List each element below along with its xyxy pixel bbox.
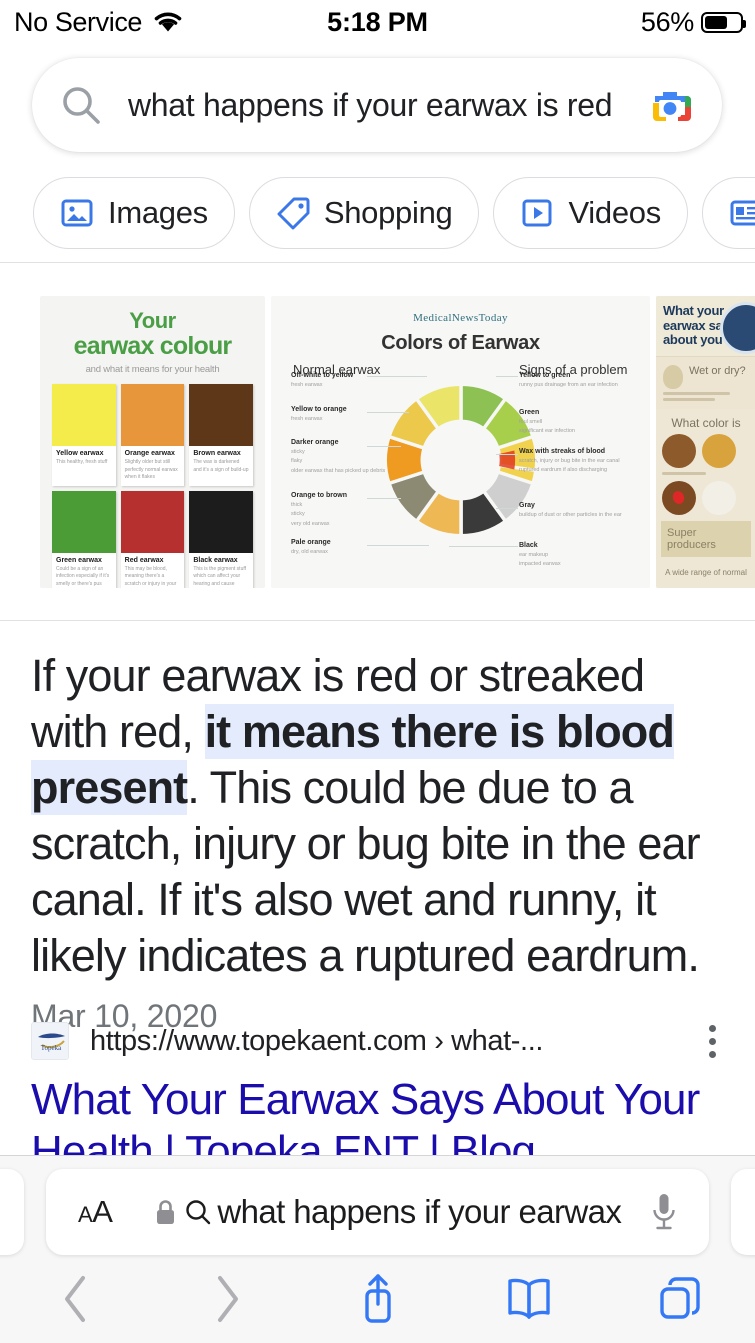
swatch-desc: The wax is darkened and it's a sign of b… bbox=[193, 459, 249, 474]
item-name: Black bbox=[519, 542, 624, 549]
color-circle bbox=[702, 434, 736, 468]
image-result-3[interactable]: What your earwax says about you Wet or d… bbox=[656, 296, 755, 588]
bookmarks-button[interactable] bbox=[453, 1255, 604, 1343]
earwax-blob-icon bbox=[663, 365, 683, 389]
text-size-button[interactable]: AA bbox=[78, 1194, 112, 1230]
filter-chip-shopping[interactable]: Shopping bbox=[249, 177, 480, 249]
filter-chip-label: Images bbox=[108, 195, 208, 231]
image-result-1[interactable]: Your earwax colour and what it means for… bbox=[40, 296, 265, 588]
infographic1-title-line1: Your bbox=[52, 310, 253, 332]
swatch-cell: Brown earwaxThe wax is darkened and it's… bbox=[189, 384, 253, 486]
problem-item: Black ear makeup impacted earwax bbox=[519, 542, 624, 569]
swatch-desc: Slightly older but still perfectly norma… bbox=[125, 459, 181, 481]
problem-item: Yellow to green runny pus drainage from … bbox=[519, 372, 624, 389]
divider-top bbox=[0, 262, 755, 263]
normal-item: Darker orange sticky flaky older earwax … bbox=[291, 439, 396, 475]
microphone-icon[interactable] bbox=[649, 1191, 679, 1233]
swatch-name: Green earwax bbox=[56, 557, 112, 564]
chevron-left-icon bbox=[58, 1271, 94, 1327]
colors-of-earwax-title: Colors of Earwax bbox=[271, 332, 650, 355]
video-play-icon bbox=[520, 196, 554, 230]
item-bullet: scratch, injury or bug bite in the ear c… bbox=[519, 457, 624, 465]
normal-item: Yellow to orange fresh earwax bbox=[291, 406, 396, 423]
book-icon bbox=[504, 1271, 554, 1327]
kebab-menu-icon[interactable] bbox=[693, 1025, 731, 1058]
color-circle-with-blood bbox=[662, 481, 696, 515]
item-bullet: foul smell bbox=[519, 418, 624, 426]
swatch-name: Black earwax bbox=[193, 557, 249, 564]
adjacent-tab-right[interactable] bbox=[731, 1169, 755, 1255]
google-search-bar[interactable]: what happens if your earwax is red bbox=[32, 58, 722, 152]
result-url[interactable]: https://www.topekaent.com › what-... bbox=[90, 1025, 693, 1058]
color-circle bbox=[702, 481, 736, 515]
infographic1-subtitle: and what it means for your health bbox=[52, 364, 253, 375]
swatch-cell: Red earwaxThis may be blood, meaning the… bbox=[121, 491, 185, 588]
item-bullet: impacted earwax bbox=[519, 560, 624, 568]
back-button[interactable] bbox=[0, 1255, 151, 1343]
image-icon bbox=[60, 196, 94, 230]
swatch-cell: Black earwaxThis is the pigment stuff wh… bbox=[189, 491, 253, 588]
problem-item: Gray buildup of dust or other particles … bbox=[519, 502, 624, 519]
item-bullet: older earwax that has picked up debris bbox=[291, 467, 396, 475]
problem-item: Wax with streaks of blood scratch, injur… bbox=[519, 448, 624, 475]
swatch-desc: This may be blood, meaning there's a scr… bbox=[125, 566, 181, 588]
item-name: Yellow to green bbox=[519, 372, 624, 379]
item-name: Darker orange bbox=[291, 439, 396, 446]
status-bar-right: 56% bbox=[641, 7, 743, 38]
filter-chip-label: Shopping bbox=[324, 195, 453, 231]
share-button[interactable] bbox=[302, 1255, 453, 1343]
swatch-desc: Could be a sign of an infection especial… bbox=[56, 566, 112, 588]
color-circle bbox=[662, 434, 696, 468]
item-bullet: very old earwax bbox=[291, 520, 396, 528]
item-name: Green bbox=[519, 409, 624, 416]
filter-chip-images[interactable]: Images bbox=[33, 177, 235, 249]
topeka-ent-favicon: Topeka bbox=[31, 1022, 69, 1060]
battery-percent-label: 56% bbox=[641, 7, 694, 38]
swatch-desc: This is the pigment stuff which can affe… bbox=[193, 566, 249, 588]
status-bar: No Service 5:18 PM 56% bbox=[0, 0, 755, 44]
lock-icon bbox=[154, 1198, 177, 1227]
swatch-cell: Green earwaxCould be a sign of an infect… bbox=[52, 491, 116, 588]
search-icon bbox=[60, 84, 102, 126]
safari-toolbar[interactable] bbox=[0, 1255, 755, 1343]
swatch-name: Red earwax bbox=[125, 557, 181, 564]
safari-browser-screen: No Service 5:18 PM 56% what happens if y… bbox=[0, 0, 755, 1343]
filter-chip-row[interactable]: Images Shopping Videos News bbox=[0, 175, 755, 251]
swatch-cell: Yellow earwaxThis healthy, fresh stuff bbox=[52, 384, 116, 486]
super-producers-label: Super producers bbox=[667, 527, 745, 551]
safari-bottom-chrome: AA what happens if your earwax bbox=[0, 1155, 755, 1343]
item-bullet: fresh earwax bbox=[291, 381, 396, 389]
price-tag-icon bbox=[276, 196, 310, 230]
earwax-color-circles bbox=[656, 434, 755, 468]
text-size-large-a: A bbox=[92, 1194, 112, 1229]
item-name: Gray bbox=[519, 502, 624, 509]
search-input[interactable]: what happens if your earwax is red bbox=[128, 87, 636, 124]
item-bullet: sticky bbox=[291, 448, 396, 456]
swatch-name: Yellow earwax bbox=[56, 450, 112, 457]
safari-url-bar[interactable]: AA what happens if your earwax bbox=[46, 1169, 709, 1255]
google-lens-icon[interactable] bbox=[644, 79, 696, 131]
item-bullet: significant ear infection bbox=[519, 427, 624, 435]
forward-button[interactable] bbox=[151, 1255, 302, 1343]
wet-or-dry-label: Wet or dry? bbox=[689, 365, 746, 377]
normal-item: Pale orange dry, old earwax bbox=[291, 539, 396, 556]
item-name: Wax with streaks of blood bbox=[519, 448, 624, 455]
url-input[interactable]: what happens if your earwax bbox=[217, 1193, 649, 1231]
result-header: Topeka https://www.topekaent.com › what-… bbox=[31, 1022, 731, 1060]
filter-chip-videos[interactable]: Videos bbox=[493, 177, 687, 249]
tabs-button[interactable] bbox=[604, 1255, 755, 1343]
tabs-icon bbox=[656, 1271, 704, 1327]
filter-chip-label: Videos bbox=[568, 195, 660, 231]
infographic1-title-line2: earwax colour bbox=[52, 333, 253, 359]
item-bullet: ear makeup bbox=[519, 551, 624, 559]
swatch-name: Brown earwax bbox=[193, 450, 249, 457]
problem-item: Green foul smell significant ear infecti… bbox=[519, 409, 624, 436]
mnt-brand-label: MedicalNewsToday bbox=[271, 312, 650, 324]
normal-item: Off-white to yellow fresh earwax bbox=[291, 372, 396, 389]
item-bullet: flaky bbox=[291, 457, 396, 465]
news-article-icon bbox=[729, 196, 755, 230]
item-bullet: runny pus drainage from an ear infection bbox=[519, 381, 624, 389]
image-result-2[interactable]: MedicalNewsToday Colors of Earwax Normal… bbox=[271, 296, 650, 588]
item-bullet: dry, old earwax bbox=[291, 548, 396, 556]
share-icon bbox=[355, 1271, 401, 1327]
divider-middle bbox=[0, 620, 755, 621]
featured-snippet: If your earwax is red or streaked with r… bbox=[31, 648, 721, 1040]
infographic3-footer: A wide range of normal bbox=[656, 563, 755, 582]
search-icon bbox=[184, 1198, 212, 1226]
item-bullet: buildup of dust or other particles in th… bbox=[519, 511, 624, 519]
item-bullet: fresh earwax bbox=[291, 415, 396, 423]
what-color-label: What color is bbox=[656, 409, 755, 434]
item-bullet: sticky bbox=[291, 510, 396, 518]
svg-text:Topeka: Topeka bbox=[41, 1044, 62, 1052]
image-results-strip[interactable]: Your earwax colour and what it means for… bbox=[0, 296, 755, 588]
swatch-name: Orange earwax bbox=[125, 450, 181, 457]
adjacent-tab-left[interactable] bbox=[0, 1169, 24, 1255]
swatch-desc: This healthy, fresh stuff bbox=[56, 459, 112, 466]
item-bullet: ruptured eardrum if also discharging bbox=[519, 466, 624, 474]
text-size-small-a: A bbox=[78, 1202, 92, 1227]
battery-icon bbox=[701, 12, 743, 33]
filter-chip-news[interactable]: News bbox=[702, 177, 755, 249]
item-bullet: thick bbox=[291, 501, 396, 509]
swatch-cell: Orange earwaxSlightly older but still pe… bbox=[121, 384, 185, 486]
chevron-right-icon bbox=[209, 1271, 245, 1327]
infographic1-swatch-grid: Yellow earwaxThis healthy, fresh stuff O… bbox=[52, 384, 253, 588]
